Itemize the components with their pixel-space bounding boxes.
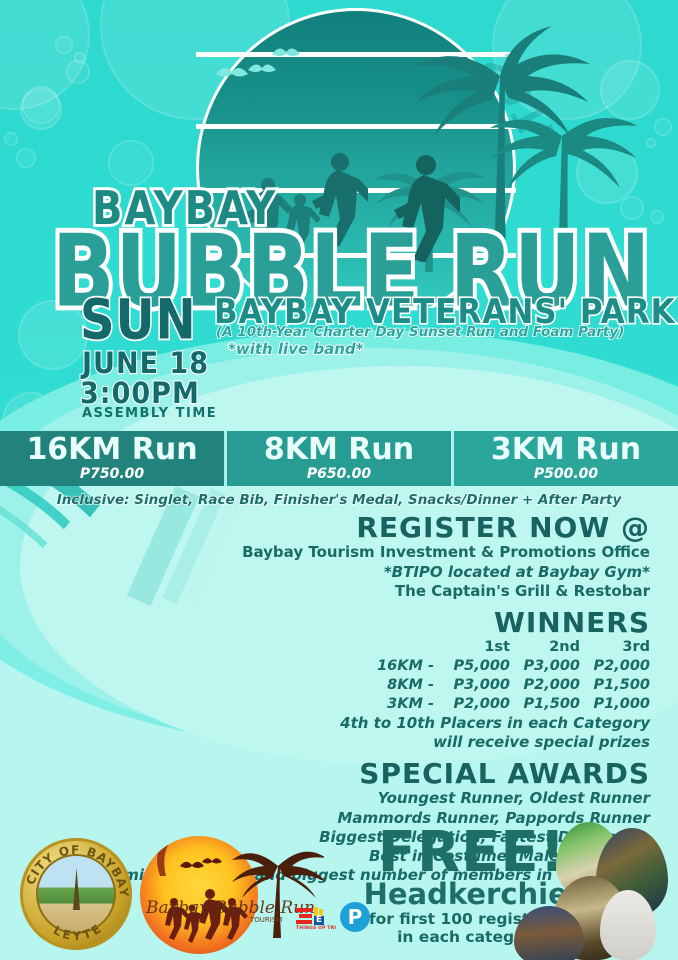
winners-row-label: 16KM -: [330, 657, 440, 676]
sponsor-3e-tagline: THINGS UP TRI: [296, 926, 336, 931]
inclusive-note: Inclusive: Singlet, Race Bib, Finisher's…: [0, 492, 678, 508]
table-row: 16KM - P5,000 P3,000 P2,000: [330, 657, 650, 676]
winners-row-label: 3KM -: [330, 695, 440, 714]
event-poster: 2017: [0, 0, 678, 960]
category-price: P500.00: [534, 466, 598, 482]
category-price: P650.00: [307, 466, 371, 482]
logo-bar: [296, 908, 312, 912]
event-date: JUNE 18: [82, 346, 209, 380]
winners-col-3rd: 3rd: [580, 638, 650, 657]
table-row: 3KM - P2,000 P1,500 P1,000: [330, 695, 650, 714]
event-day: SUN: [80, 288, 197, 352]
assembly-time-label: ASSEMBLY TIME: [82, 406, 217, 421]
bubble-decoration: [4, 132, 18, 146]
tourism-script-wordmark: Baybay Bubble Run: [146, 898, 315, 918]
winners-prize: P2,000: [510, 676, 580, 695]
bubble-decoration: [20, 88, 62, 130]
sponsor-3e-logo: E THINGS UP TRI: [296, 906, 340, 932]
svg-text:CITY OF BAYBAY: CITY OF BAYBAY: [23, 843, 131, 899]
winners-note: will receive special prizes: [0, 733, 650, 752]
live-band-note: *with live band*: [228, 340, 364, 358]
register-heading: REGISTER NOW @: [0, 512, 650, 543]
winners-row-label: 8KM -: [330, 676, 440, 695]
category-name: 8KM Run: [264, 435, 414, 465]
winners-prize: P3,000: [440, 676, 510, 695]
register-line: The Captain's Grill & Restobar: [0, 582, 650, 601]
svg-text:LEYTE: LEYTE: [51, 920, 106, 943]
category-16km[interactable]: 16KM Run P750.00: [0, 431, 224, 486]
winners-prize: P1,500: [580, 676, 650, 695]
winners-prize: P3,000: [510, 657, 580, 676]
category-name: 3KM Run: [491, 435, 641, 465]
race-category-bar: 16KM Run P750.00 8KM Run P650.00 3KM Run…: [0, 431, 678, 486]
winners-table: 1st 2nd 3rd 16KM - P5,000 P3,000 P2,000 …: [330, 638, 650, 713]
sponsor-p-logo: P: [340, 902, 370, 932]
category-3km[interactable]: 3KM Run P500.00: [451, 431, 678, 486]
logo-bar: [296, 920, 312, 924]
logo-bar: [299, 914, 312, 918]
category-name: 16KM Run: [26, 435, 197, 465]
winners-heading: WINNERS: [0, 607, 650, 638]
winners-col-1st: 1st: [440, 638, 510, 657]
bubble-decoration: [16, 148, 36, 168]
winners-col-2nd: 2nd: [510, 638, 580, 657]
special-award-item: Youngest Runner, Oldest Runner: [0, 789, 650, 808]
winners-prize: P1,500: [510, 695, 580, 714]
winners-prize: P1,000: [580, 695, 650, 714]
winners-header-spacer: [330, 638, 440, 657]
event-venue-subtitle: (A 10th-Year Charter Day Sunset Run and …: [216, 324, 624, 340]
category-price: P750.00: [80, 466, 144, 482]
register-line: *BTIPO located at Baybay Gym*: [0, 563, 650, 582]
city-seal-text: CITY OF BAYBAY LEYTE: [20, 838, 132, 950]
table-row: 8KM - P3,000 P2,000 P1,500: [330, 676, 650, 695]
category-8km[interactable]: 8KM Run P650.00: [224, 431, 451, 486]
winners-prize: P5,000: [440, 657, 510, 676]
bubble-decoration: [55, 36, 73, 54]
winners-note: 4th to 10th Placers in each Category: [0, 714, 650, 733]
bubble-decoration: [108, 140, 154, 186]
special-awards-heading: SPECIAL AWARDS: [0, 758, 650, 789]
winners-prize: P2,000: [580, 657, 650, 676]
winners-header-row: 1st 2nd 3rd: [330, 638, 650, 657]
winners-prize: P2,000: [440, 695, 510, 714]
register-line: Baybay Tourism Investment & Promotions O…: [0, 543, 650, 562]
city-seal-logo: CITY OF BAYBAY LEYTE: [20, 838, 132, 950]
tourism-tagline: TOURISM: [250, 916, 282, 924]
logo-letter-e: E: [314, 916, 324, 925]
bubble-decoration: [654, 118, 672, 136]
bubble-decoration: [66, 60, 90, 84]
